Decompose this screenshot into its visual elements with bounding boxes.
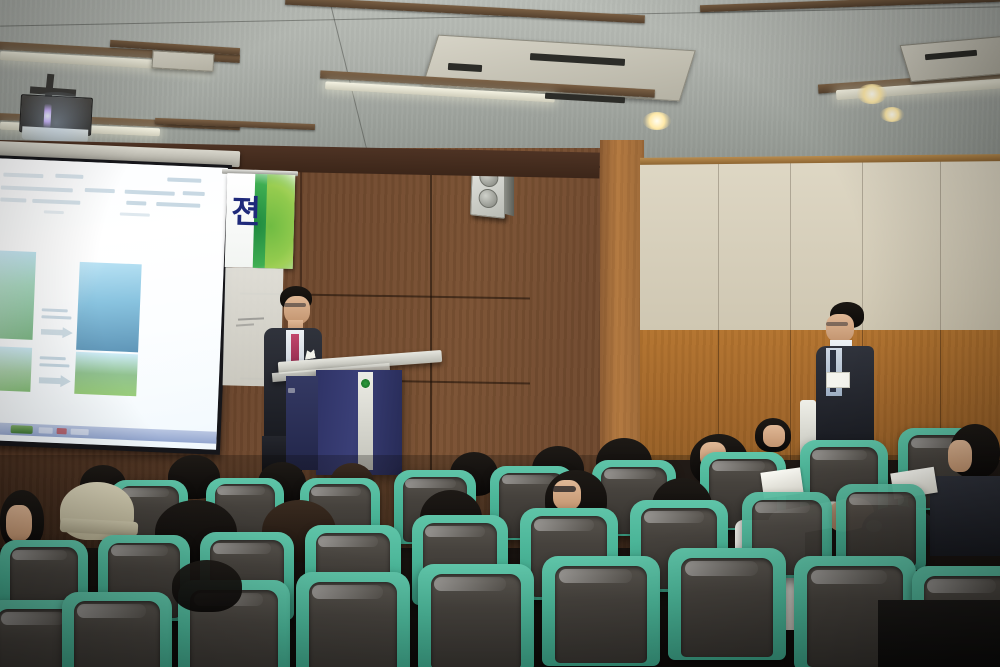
audience-face	[6, 505, 32, 541]
auditorium-seat[interactable]	[542, 556, 660, 666]
auditorium-seat[interactable]	[62, 592, 172, 667]
audience-foreground-silhouette	[878, 600, 1000, 667]
screen-glare	[0, 158, 228, 449]
auditorium-seat[interactable]	[668, 548, 786, 660]
audience-face	[948, 440, 972, 472]
downlight	[643, 112, 671, 130]
presenter-glasses	[284, 303, 306, 307]
attendee-glasses	[826, 322, 848, 326]
wall-seam	[430, 150, 432, 480]
audience-suit	[930, 476, 1000, 556]
audience-face	[553, 480, 581, 510]
speaker-driver-icon	[478, 188, 498, 209]
standing-attendee	[812, 300, 878, 460]
wall-panel-seam	[718, 162, 719, 330]
event-banner: 젼	[225, 173, 296, 269]
wall-panel-seam	[940, 158, 941, 330]
wall-pillar-texture	[600, 140, 644, 470]
projection-screen	[0, 158, 228, 449]
ac-vent	[152, 50, 215, 72]
audience-glasses	[552, 486, 576, 492]
photo-scene: 젼	[0, 0, 1000, 667]
ac-vent	[900, 36, 1000, 82]
auditorium-seat[interactable]	[418, 564, 534, 667]
screen-frame	[0, 155, 232, 455]
banner-text: 젼	[231, 195, 261, 228]
attendee-face	[826, 314, 854, 342]
banner-graphic	[264, 173, 295, 269]
auditorium-seat[interactable]	[296, 572, 410, 667]
attendee-name-badge	[826, 372, 850, 388]
audience-head	[172, 560, 242, 612]
lectern-emblem-icon	[360, 378, 371, 389]
lectern-control[interactable]	[288, 388, 295, 393]
downlight	[880, 107, 904, 122]
audience-face	[763, 425, 785, 447]
downlight	[857, 84, 887, 104]
wall-panel-seam	[790, 162, 791, 330]
